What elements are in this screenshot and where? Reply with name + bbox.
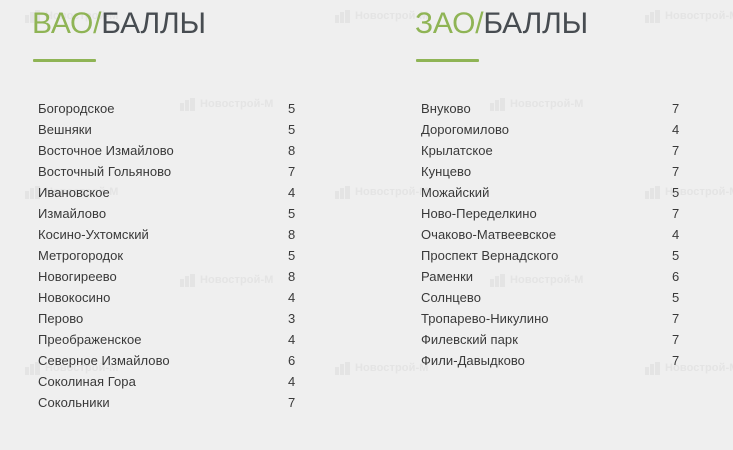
district-score: 6 — [672, 266, 679, 287]
district-score: 7 — [672, 98, 679, 119]
district-row: Северное Измайлово6 — [38, 350, 328, 371]
district-row: Измайлово5 — [38, 203, 328, 224]
district-score: 7 — [672, 308, 679, 329]
district-score: 5 — [672, 182, 679, 203]
district-score: 4 — [288, 329, 295, 350]
district-name: Богородское — [38, 101, 115, 116]
district-score: 5 — [672, 287, 679, 308]
district-list-vao: Богородское5Вешняки5Восточное Измайлово8… — [38, 98, 328, 413]
district-score: 7 — [288, 161, 295, 182]
column-header-vao: ВАО/БАЛЛЫ — [32, 9, 206, 39]
district-name: Очаково-Матвеевское — [421, 227, 556, 242]
column-okrug-label: ВАО/ — [32, 7, 101, 40]
district-row: Кунцево7 — [421, 161, 711, 182]
district-row: Раменки6 — [421, 266, 711, 287]
district-name: Новогиреево — [38, 269, 117, 284]
district-row: Солнцево5 — [421, 287, 711, 308]
district-score: 5 — [288, 203, 295, 224]
column-header-zao: ЗАО/БАЛЛЫ — [415, 9, 588, 39]
district-row: Можайский5 — [421, 182, 711, 203]
district-name: Ново-Переделкино — [421, 206, 537, 221]
district-row: Восточный Гольяново7 — [38, 161, 328, 182]
district-score: 5 — [672, 245, 679, 266]
district-score: 5 — [288, 245, 295, 266]
district-name: Тропарево-Никулино — [421, 311, 549, 326]
district-score: 7 — [672, 329, 679, 350]
district-name: Крылатское — [421, 143, 493, 158]
district-name: Сокольники — [38, 395, 110, 410]
district-score: 4 — [288, 182, 295, 203]
district-name: Преображенское — [38, 332, 142, 347]
district-score: 8 — [288, 266, 295, 287]
district-row: Восточное Измайлово8 — [38, 140, 328, 161]
district-score: 8 — [288, 140, 295, 161]
district-row: Соколиная Гора4 — [38, 371, 328, 392]
district-name: Можайский — [421, 185, 489, 200]
district-score: 4 — [288, 287, 295, 308]
district-score: 7 — [672, 140, 679, 161]
district-name: Солнцево — [421, 290, 481, 305]
district-name: Восточное Измайлово — [38, 143, 174, 158]
district-row: Новокосино4 — [38, 287, 328, 308]
district-row: Очаково-Матвеевское4 — [421, 224, 711, 245]
district-name: Измайлово — [38, 206, 106, 221]
district-name: Северное Измайлово — [38, 353, 170, 368]
district-score: 4 — [672, 224, 679, 245]
district-name: Ивановское — [38, 185, 110, 200]
district-row: Преображенское4 — [38, 329, 328, 350]
district-row: Дорогомилово4 — [421, 119, 711, 140]
district-name: Соколиная Гора — [38, 374, 136, 389]
district-row: Крылатское7 — [421, 140, 711, 161]
district-name: Фили-Давыдково — [421, 353, 525, 368]
district-name: Внуково — [421, 101, 471, 116]
district-score: 8 — [288, 224, 295, 245]
district-name: Метрогородок — [38, 248, 123, 263]
district-row: Тропарево-Никулино7 — [421, 308, 711, 329]
district-row: Фили-Давыдково7 — [421, 350, 711, 371]
district-name: Перово — [38, 311, 83, 326]
district-score: 4 — [288, 371, 295, 392]
district-score: 4 — [672, 119, 679, 140]
district-name: Восточный Гольяново — [38, 164, 171, 179]
district-row: Проспект Вернадского5 — [421, 245, 711, 266]
district-name: Косино-Ухтомский — [38, 227, 149, 242]
district-score: 3 — [288, 308, 295, 329]
district-score: 7 — [288, 392, 295, 413]
district-score: 5 — [288, 98, 295, 119]
column-okrug-label: ЗАО/ — [415, 7, 483, 40]
district-score: 6 — [288, 350, 295, 371]
column-accent-underline — [33, 59, 96, 62]
district-row: Богородское5 — [38, 98, 328, 119]
district-row: Метрогородок5 — [38, 245, 328, 266]
district-name: Филевский парк — [421, 332, 518, 347]
column-metric-label: БАЛЛЫ — [101, 7, 206, 40]
district-list-zao: Внуково7Дорогомилово4Крылатское7Кунцево7… — [421, 98, 711, 371]
district-row: Сокольники7 — [38, 392, 328, 413]
district-name: Новокосино — [38, 290, 110, 305]
score-board: ВАО/БАЛЛЫ Богородское5Вешняки5Восточное … — [0, 0, 733, 450]
district-row: Новогиреево8 — [38, 266, 328, 287]
column-metric-label: БАЛЛЫ — [483, 7, 588, 40]
column-accent-underline — [416, 59, 479, 62]
district-name: Раменки — [421, 269, 473, 284]
district-row: Косино-Ухтомский8 — [38, 224, 328, 245]
district-row: Вешняки5 — [38, 119, 328, 140]
district-score: 7 — [672, 350, 679, 371]
district-score: 5 — [288, 119, 295, 140]
district-row: Ивановское4 — [38, 182, 328, 203]
district-score: 7 — [672, 203, 679, 224]
district-score: 7 — [672, 161, 679, 182]
district-name: Кунцево — [421, 164, 471, 179]
district-row: Внуково7 — [421, 98, 711, 119]
district-name: Дорогомилово — [421, 122, 509, 137]
district-name: Вешняки — [38, 122, 92, 137]
district-row: Филевский парк7 — [421, 329, 711, 350]
district-row: Ново-Переделкино7 — [421, 203, 711, 224]
district-name: Проспект Вернадского — [421, 248, 558, 263]
district-row: Перово3 — [38, 308, 328, 329]
